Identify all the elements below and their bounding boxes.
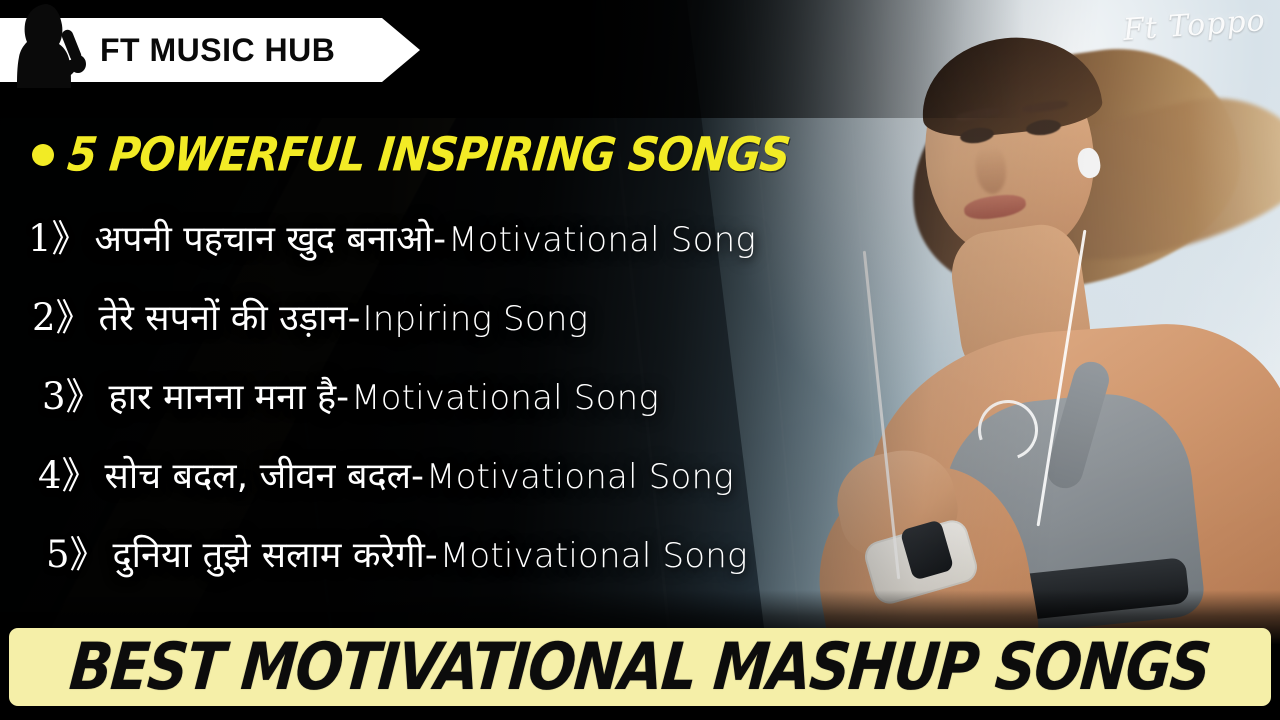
song-title-hindi: हार मानना मना है-: [109, 371, 350, 420]
song-number: 4》: [38, 445, 99, 499]
list-item[interactable]: 4》 सोच बदल, जीवन बदल- Motivational Song: [28, 445, 1088, 524]
song-number: 2》: [32, 287, 93, 341]
song-genre: Motivational Song: [351, 378, 659, 418]
thumbnail-canvas: FT MUSIC HUB Ft Toppo 5 POWERFUL INSPIRI…: [0, 0, 1280, 720]
song-number: 5》: [46, 524, 107, 578]
list-item[interactable]: 3》 हार मानना मना है- Motivational Song: [28, 366, 1088, 445]
list-item[interactable]: 5》 दुनिया तुझे सलाम करेगी- Motivational …: [28, 524, 1088, 603]
song-genre: Motivational Song: [448, 220, 756, 260]
headline-text: 5 POWERFUL INSPIRING SONGS: [65, 127, 792, 182]
song-title-hindi: सोच बदल, जीवन बदल-: [105, 450, 424, 499]
song-title-hindi: अपनी पहचान खुद बनाओ-: [95, 213, 447, 262]
dot-bullet-icon: [32, 144, 54, 166]
song-number: 1》: [28, 208, 89, 262]
song-genre: Motivational Song: [440, 536, 748, 576]
channel-logo[interactable]: FT MUSIC HUB: [0, 18, 420, 82]
song-list: 1》 अपनी पहचान खुद बनाओ- Motivational Son…: [28, 208, 1088, 603]
list-item[interactable]: 1》 अपनी पहचान खुद बनाओ- Motivational Son…: [28, 208, 1088, 287]
list-item[interactable]: 2》 तेरे सपनों की उड़ान- Inpiring Song: [28, 287, 1088, 366]
headline: 5 POWERFUL INSPIRING SONGS: [32, 130, 789, 179]
bottom-banner: BEST MOTIVATIONAL MASHUP SONGS: [9, 628, 1271, 706]
bottom-banner-text: BEST MOTIVATIONAL MASHUP SONGS: [67, 629, 1213, 704]
song-number: 3》: [42, 366, 103, 420]
song-genre: Inpiring Song: [362, 299, 588, 339]
hooded-singer-microphone-silhouette-icon: [8, 2, 104, 92]
song-title-hindi: तेरे सपनों की उड़ान-: [99, 292, 361, 341]
song-genre: Motivational Song: [426, 457, 734, 497]
logo-text: FT MUSIC HUB: [100, 18, 335, 82]
song-title-hindi: दुनिया तुझे सलाम करेगी-: [113, 529, 438, 578]
